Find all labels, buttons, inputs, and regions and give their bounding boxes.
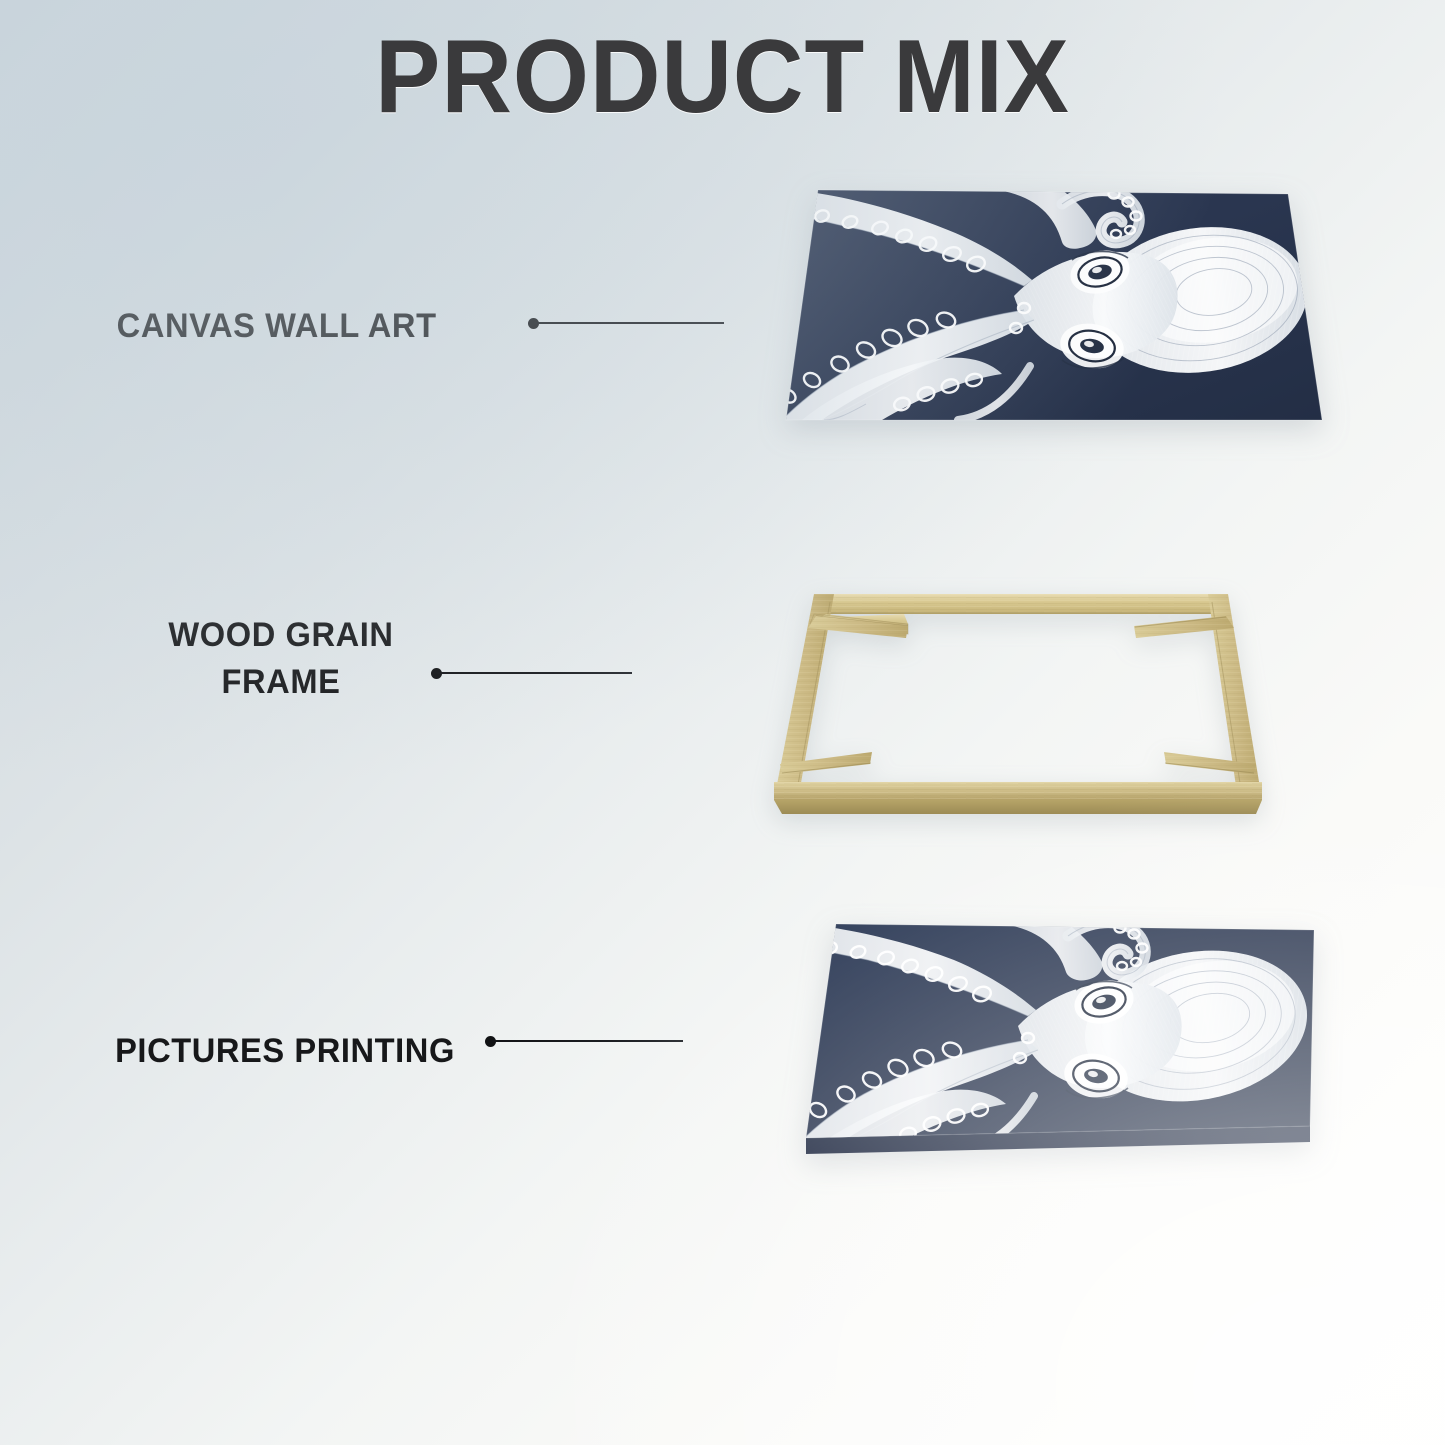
leader-bar bbox=[437, 672, 632, 674]
callout-label-wood-grain-frame: WOOD GRAIN FRAME bbox=[157, 612, 405, 706]
page-title: PRODUCT MIX bbox=[43, 24, 1401, 130]
leader-line-pictures-printing bbox=[485, 1032, 683, 1050]
callout-label-canvas-wall-art: CANVAS WALL ART bbox=[117, 303, 437, 350]
canvas-print-bottom-surface bbox=[786, 923, 1319, 1154]
leader-bar bbox=[534, 322, 724, 324]
leader-bar bbox=[491, 1040, 683, 1042]
product-canvas-print-bottom[interactable] bbox=[774, 906, 1350, 1184]
product-canvas-print-top[interactable] bbox=[762, 168, 1338, 448]
wood-frame-structure bbox=[774, 594, 1262, 814]
canvas-print-top-surface bbox=[778, 190, 1322, 421]
product-wood-frame[interactable] bbox=[758, 578, 1278, 834]
infographic-canvas: PRODUCT MIX CANVAS WALL ART bbox=[0, 0, 1445, 1445]
leader-line-wood-grain-frame bbox=[431, 664, 631, 682]
leader-line-canvas-wall-art bbox=[528, 314, 724, 332]
callout-label-pictures-printing: PICTURES PRINTING bbox=[115, 1028, 455, 1075]
